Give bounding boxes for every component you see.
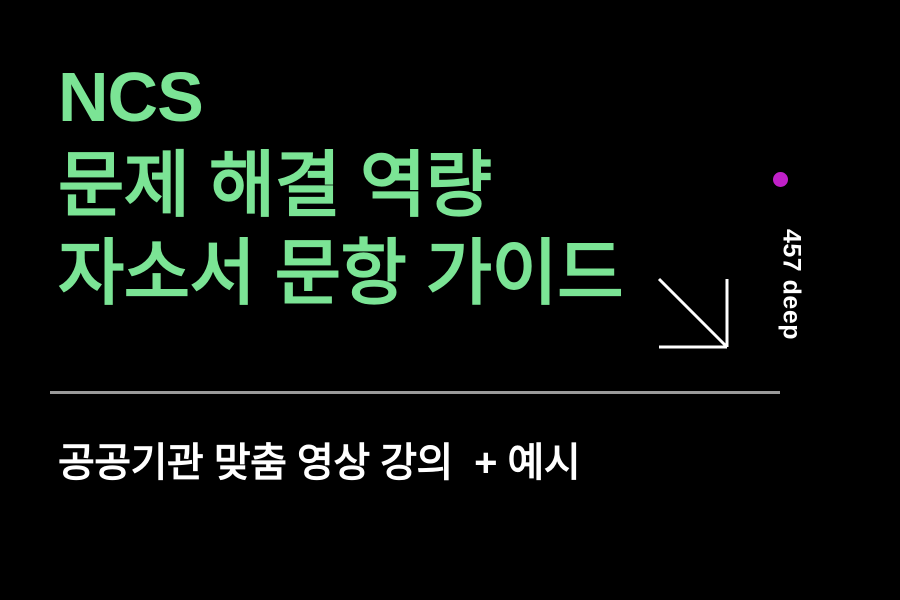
poster-canvas: NCS 문제 해결 역량 자소서 문항 가이드 457 deep 공공기관 맞춤… — [0, 0, 900, 600]
headline-line-guide: 자소서 문항 가이드 — [58, 238, 758, 310]
headline-block: NCS 문제 해결 역량 자소서 문항 가이드 — [58, 62, 758, 310]
headline-line-competency: 문제 해결 역량 — [58, 150, 758, 222]
subtitle-text: 공공기관 맞춤 영상 강의 + 예시 — [58, 430, 580, 488]
side-label-text: 457 deep — [777, 210, 806, 360]
horizontal-divider — [50, 391, 780, 394]
headline-line-ncs: NCS — [58, 62, 758, 132]
magenta-dot-icon — [773, 172, 788, 187]
side-label-group: 457 deep — [762, 172, 800, 352]
